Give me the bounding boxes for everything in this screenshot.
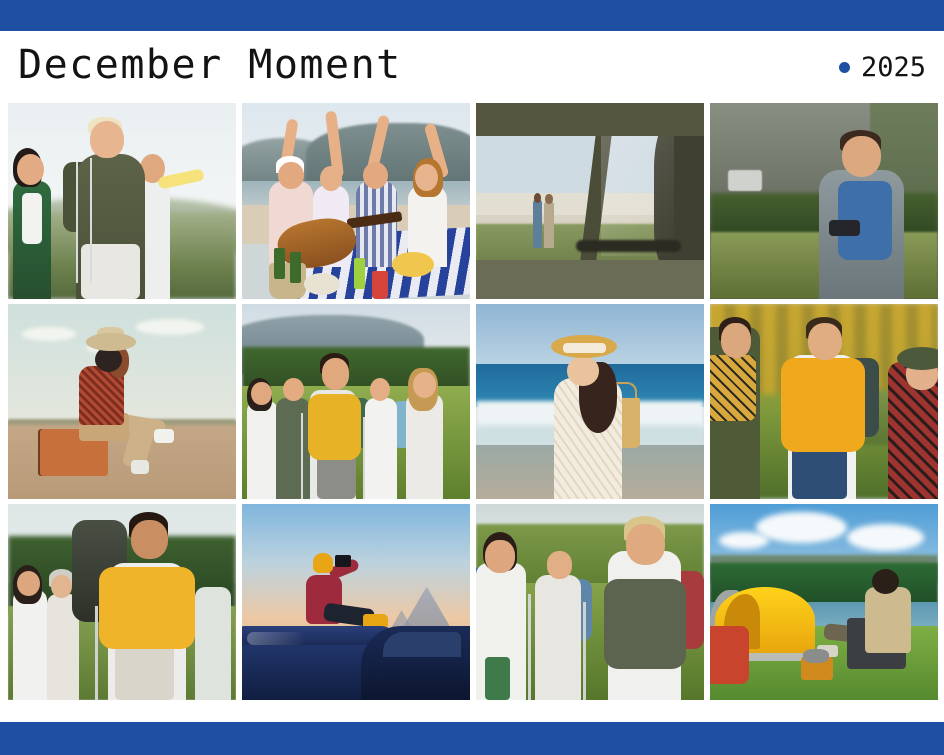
photo-11-scene [476, 504, 704, 700]
photo-1-scene [8, 103, 236, 299]
photo-3-scene [476, 103, 704, 299]
bottom-accent-bar [0, 722, 944, 755]
year-badge: 2025 [839, 54, 930, 81]
photo-9-scene [8, 504, 236, 700]
photo-tile-6[interactable]: Group of smiling hikers with backpacks w… [242, 304, 470, 500]
top-accent-bar [0, 0, 944, 31]
photo-12-scene [710, 504, 938, 700]
photo-2-scene [242, 103, 470, 299]
photo-tile-12[interactable]: Camper relaxing in a chair beside a yell… [710, 504, 938, 700]
year-label: 2025 [861, 54, 926, 81]
photo-4-scene [710, 103, 938, 299]
photo-tile-2[interactable]: Friends celebrating at a seaside picnic … [242, 103, 470, 299]
page-title: December Moment [18, 45, 402, 89]
photo-8-scene [710, 304, 938, 500]
page-header: December Moment 2025 [0, 31, 944, 103]
photo-tile-7[interactable]: Woman in a straw hat and floral dress wa… [476, 304, 704, 500]
photo-tile-10[interactable]: Traveler sitting on a blue car roof phot… [242, 504, 470, 700]
photo-5-scene [8, 304, 236, 500]
bullet-dot-icon [839, 62, 850, 73]
photo-tile-11[interactable]: Hikers with backpacks and trekking poles… [476, 504, 704, 700]
photo-tile-9[interactable]: Backpacker with a large pack leading a g… [8, 504, 236, 700]
photo-tile-5[interactable]: Woman in a straw hat sitting on a vintag… [8, 304, 236, 500]
photo-tile-1[interactable]: Three friends hiking with trekking poles… [8, 103, 236, 299]
photo-tile-3[interactable]: Couple standing on coastal dunes seen th… [476, 103, 704, 299]
photo-6-scene [242, 304, 470, 500]
photo-grid: Three friends hiking with trekking poles… [8, 103, 938, 700]
photo-7-scene [476, 304, 704, 500]
photo-10-scene [242, 504, 470, 700]
photo-tile-8[interactable]: Hikers in an autumn forest, man in a yel… [710, 304, 938, 500]
photo-tile-4[interactable]: Man with binoculars standing below a roc… [710, 103, 938, 299]
